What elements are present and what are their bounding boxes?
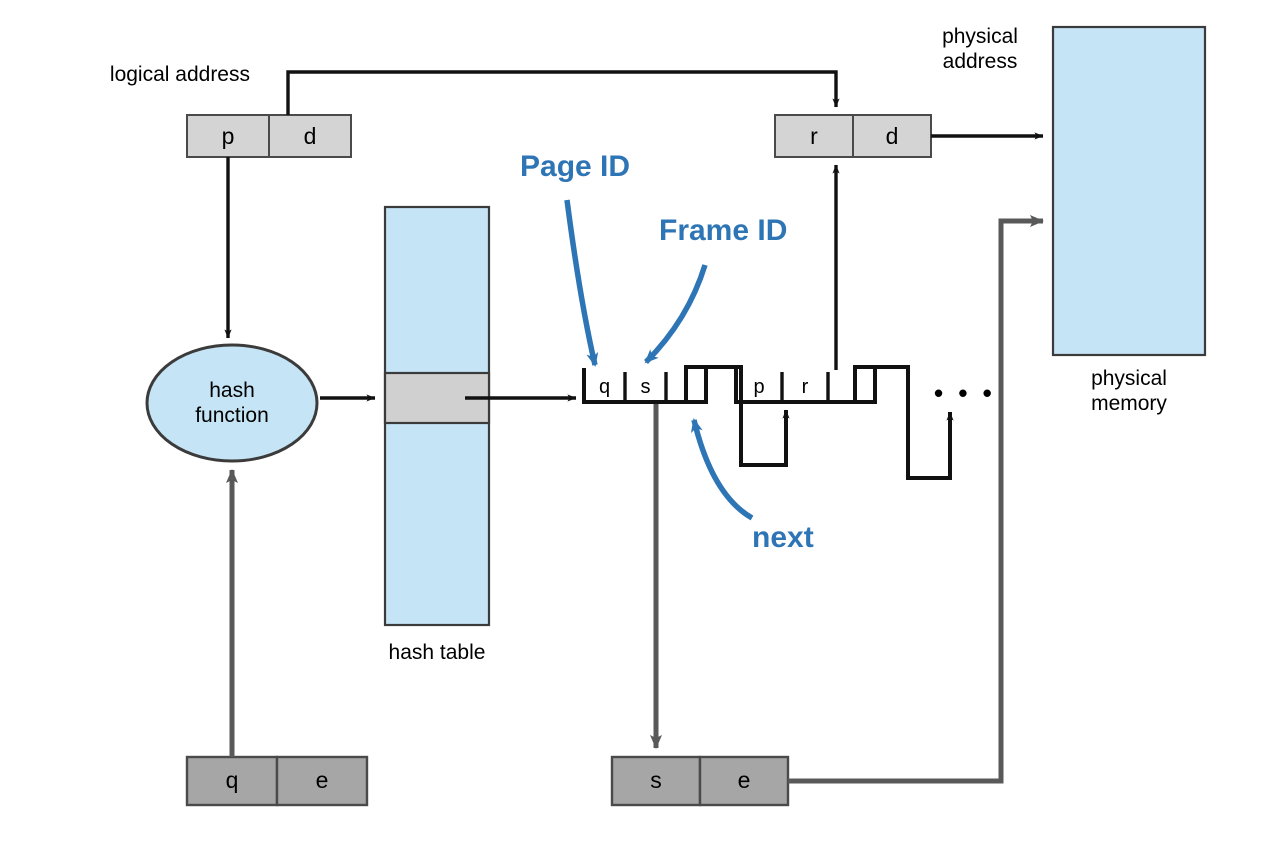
page-id-annotation-arrow xyxy=(567,200,595,365)
physical-memory-label-line1: physical xyxy=(1049,366,1209,391)
physical-address-label-line1: physical xyxy=(900,24,1060,49)
next-annotation-label: next xyxy=(752,521,814,555)
page-id-annotation-label: Page ID xyxy=(520,150,630,184)
logical-address-cell-p: p xyxy=(187,123,269,150)
logical-address-cell-d: d xyxy=(269,123,351,150)
logical-to-physical-offset-path xyxy=(288,72,836,115)
chain-node-2-field-frame: r xyxy=(782,376,828,399)
physical-address-cell-d: d xyxy=(853,123,931,150)
hash-function-label-line1: hash xyxy=(147,378,317,403)
hash-function-label-line2: function xyxy=(147,403,317,428)
hash-input-cell-e: e xyxy=(277,767,367,794)
physical-memory-block xyxy=(1053,27,1205,355)
diagram-canvas: logical address physical address p d r d… xyxy=(0,0,1288,846)
frame-output-cell-e: e xyxy=(700,767,788,794)
physical-address-cell-r: r xyxy=(775,123,853,150)
next-annotation-arrow xyxy=(694,420,752,518)
hash-input-cell-q: q xyxy=(187,767,277,794)
hash-table-label: hash table xyxy=(357,640,517,665)
frame-id-annotation-arrow xyxy=(646,265,705,362)
physical-memory-label-line2: memory xyxy=(1049,391,1209,416)
chain-node-1-field-page: q xyxy=(584,376,625,399)
hash-table-block xyxy=(385,207,489,625)
physical-address-label-line2: address xyxy=(900,49,1060,74)
chain-node-1-field-frame: s xyxy=(625,376,666,399)
chain-ellipsis: • • • xyxy=(934,381,996,406)
output-to-memory-path xyxy=(788,221,1043,781)
frame-output-cell-s: s xyxy=(612,767,700,794)
frame-id-annotation-label: Frame ID xyxy=(659,214,787,248)
chain-node-2-field-page: p xyxy=(736,376,782,399)
logical-address-label: logical address xyxy=(30,62,250,87)
